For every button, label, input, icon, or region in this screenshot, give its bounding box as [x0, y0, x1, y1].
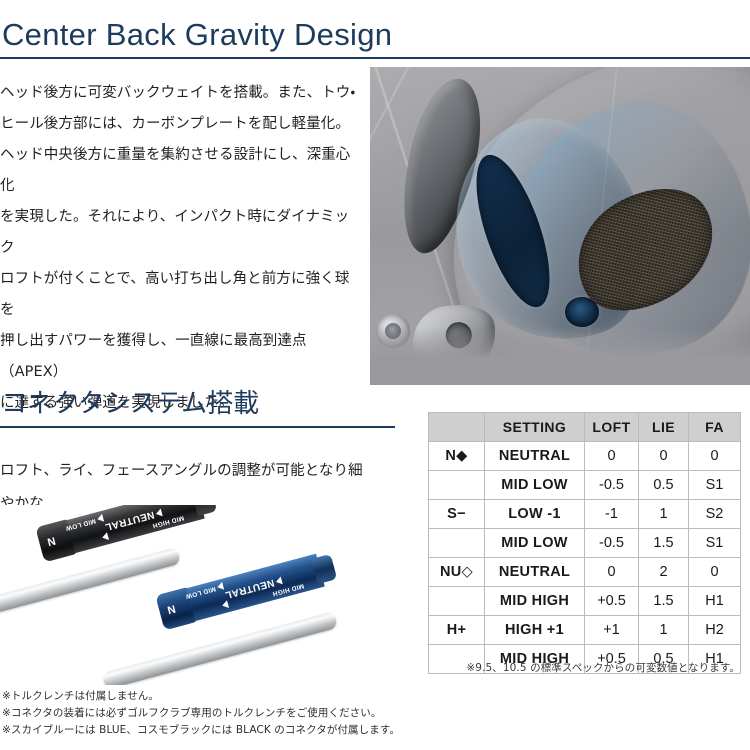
cell-fa: H1 — [689, 587, 741, 616]
footnote-line: ※トルクレンチは付属しません。 — [2, 688, 432, 705]
blue-arrow-icon — [275, 577, 283, 586]
footnote-line: ※コネクタの装着には必ずゴルフクラブ専用のトルクレンチをご使用ください。 — [2, 705, 432, 722]
driver-head-photo — [370, 67, 750, 385]
cell-lie: 2 — [639, 558, 689, 587]
shaft-blue — [102, 611, 338, 685]
blue-connector-markings: MID HIGH NEUTRAL MID LOW — [199, 558, 315, 616]
table-row: MID LOW -0.5 1.5 S1 — [429, 529, 741, 558]
weight-port — [565, 297, 599, 327]
cell-code: H+ — [429, 616, 485, 645]
cell-setting: NEUTRAL — [485, 442, 585, 471]
cell-lie: 1.5 — [639, 529, 689, 558]
description-line: ヒール後方部には、カーボンプレートを配し軽量化。 — [0, 109, 362, 140]
cell-setting: HIGH +1 — [485, 616, 585, 645]
black-neutral-label: NEUTRAL — [104, 509, 156, 533]
black-arrow-icon — [101, 532, 109, 541]
col-header-code — [429, 413, 485, 442]
cell-code — [429, 529, 485, 558]
table-row: S− LOW -1 -1 1 S2 — [429, 500, 741, 529]
cell-setting: MID LOW — [485, 529, 585, 558]
spec-table-note: ※9.5、10.5 の標準スペックからの可変数値となります。 — [428, 660, 740, 675]
cell-lie: 1 — [639, 616, 689, 645]
cell-loft: 0 — [585, 558, 639, 587]
cell-code: NU◇ — [429, 558, 485, 587]
table-header-row: SETTING LOFT LIE FA — [429, 413, 741, 442]
blue-arrow-icon — [221, 600, 229, 609]
col-header-fa: FA — [689, 413, 741, 442]
description-line: ロフトが付くことで、高い打ち出し角と前方に強く球を — [0, 264, 362, 326]
product-detail-page: Center Back Gravity Design ヘッド後方に可変バックウェ… — [0, 0, 750, 750]
connector-photo: N MID HIGH NEUTRAL MID LOW N MID HIGH NE… — [0, 505, 420, 685]
description-line: ヘッド中央後方に重量を集約させる設計にし、深重心化 — [0, 140, 362, 202]
description-line: 押し出すパワーを獲得し、一直線に最高到達点（APEX） — [0, 326, 362, 388]
black-arrow-icon — [155, 509, 163, 518]
section-one-description: ヘッド後方に可変バックウェイトを搭載。また、トウ・ ヒール後方部には、カーボンプ… — [0, 78, 362, 419]
col-header-loft: LOFT — [585, 413, 639, 442]
col-header-lie: LIE — [639, 413, 689, 442]
cell-loft: +1 — [585, 616, 639, 645]
photo-floor-shadow — [370, 327, 750, 385]
description-line: を実現した。それにより、インパクト時にダイナミック — [0, 202, 362, 264]
blue-arrow-icon — [216, 582, 224, 591]
spec-table-body: N◆ NEUTRAL 0 0 0 MID LOW -0.5 0.5 S1 S− … — [429, 442, 741, 674]
cell-loft: -0.5 — [585, 529, 639, 558]
spec-table: SETTING LOFT LIE FA N◆ NEUTRAL 0 0 0 MID… — [428, 412, 741, 674]
col-header-setting: SETTING — [485, 413, 585, 442]
spec-table-container: SETTING LOFT LIE FA N◆ NEUTRAL 0 0 0 MID… — [428, 412, 740, 674]
section-one-header: Center Back Gravity Design — [0, 18, 750, 59]
table-row: N◆ NEUTRAL 0 0 0 — [429, 442, 741, 471]
cell-code: S− — [429, 500, 485, 529]
section-two-divider — [0, 426, 395, 428]
table-row: MID LOW -0.5 0.5 S1 — [429, 471, 741, 500]
blue-neutral-label: NEUTRAL — [224, 577, 276, 601]
section-two-header: コネクタシステム搭載 — [0, 390, 395, 428]
cell-fa: 0 — [689, 558, 741, 587]
cell-fa: 0 — [689, 442, 741, 471]
cell-code: N◆ — [429, 442, 485, 471]
cell-code — [429, 587, 485, 616]
cell-loft: -0.5 — [585, 471, 639, 500]
cell-loft: -1 — [585, 500, 639, 529]
cell-lie: 0 — [639, 442, 689, 471]
shaft-black — [0, 547, 181, 618]
table-row: NU◇ NEUTRAL 0 2 0 — [429, 558, 741, 587]
cell-fa: S1 — [689, 529, 741, 558]
footnote-line: ※スカイブルーには BLUE、コスモブラックには BLACK のコネクタが付属し… — [2, 722, 432, 739]
cell-setting: LOW -1 — [485, 500, 585, 529]
spec-table-head: SETTING LOFT LIE FA — [429, 413, 741, 442]
footnotes: ※トルクレンチは付属しません。 ※コネクタの装着には必ずゴルフクラブ専用のトルク… — [2, 688, 432, 739]
cell-setting: MID LOW — [485, 471, 585, 500]
section-two-title: コネクタシステム搭載 — [0, 390, 395, 420]
page-title: Center Back Gravity Design — [0, 18, 750, 52]
cell-fa: S1 — [689, 471, 741, 500]
title-divider — [0, 57, 750, 59]
table-row: MID HIGH +0.5 1.5 H1 — [429, 587, 741, 616]
cell-lie: 1 — [639, 500, 689, 529]
cell-setting: MID HIGH — [485, 587, 585, 616]
cell-fa: H2 — [689, 616, 741, 645]
table-row: H+ HIGH +1 +1 1 H2 — [429, 616, 741, 645]
cell-lie: 1.5 — [639, 587, 689, 616]
cell-lie: 0.5 — [639, 471, 689, 500]
black-arrow-icon — [96, 514, 104, 523]
cell-loft: +0.5 — [585, 587, 639, 616]
cell-setting: NEUTRAL — [485, 558, 585, 587]
description-line: ヘッド後方に可変バックウェイトを搭載。また、トウ・ — [0, 78, 362, 109]
cell-fa: S2 — [689, 500, 741, 529]
cell-loft: 0 — [585, 442, 639, 471]
black-connector: N MID HIGH NEUTRAL MID LOW — [35, 505, 218, 562]
cell-code — [429, 471, 485, 500]
